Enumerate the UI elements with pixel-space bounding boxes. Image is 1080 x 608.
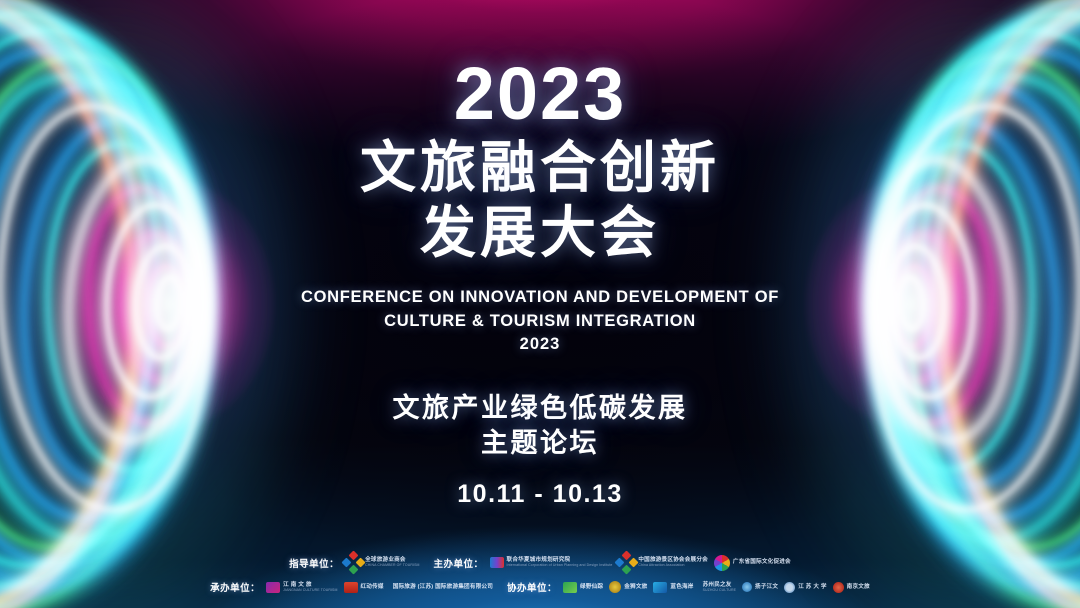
conference-poster: 2023 文旅融合创新 发展大会 CONFERENCE ON INNOVATIO…	[0, 0, 1080, 608]
sponsor-name-cn: 国际旅游 (江苏) 国际旅游集团有限公司	[393, 584, 493, 590]
sponsor-row-primary: 指导单位：全球旅游业商会CHINA CHAMBER OF TOURISM主办单位…	[289, 554, 791, 571]
small-blue-logo	[742, 582, 752, 592]
sponsor-logo-text: 苏州民之友SUZHOU CULTURE	[703, 582, 736, 593]
poster-content: 2023 文旅融合创新 发展大会 CONFERENCE ON INNOVATIO…	[0, 0, 1080, 608]
sponsor-logo[interactable]: 联合华夏城市规划研究院International Corporation of …	[490, 557, 613, 568]
sponsor-logo-text: 蓝色海岸	[670, 584, 693, 590]
sponsor-name-cn: 苏州民之友	[703, 582, 736, 588]
sponsor-logo[interactable]: 南京文旅	[833, 582, 870, 593]
sponsor-group-label: 协办单位：	[507, 580, 557, 594]
sponsor-logo[interactable]: 蓝色海岸	[653, 582, 693, 593]
envelope-red-logo	[344, 582, 358, 593]
sponsor-logo[interactable]: 中国旅游景区协会会展分会China Attraction Association	[618, 554, 708, 571]
year-heading: 2023	[454, 58, 627, 129]
four-diamond-logo	[615, 550, 639, 574]
sponsor-logo[interactable]: 江 南 文 旅JIANGNAN CULTURE TOURISM	[266, 582, 337, 593]
forum-theme: 文旅产业绿色低碳发展 主题论坛	[393, 391, 688, 462]
sponsor-logo-text: 江 南 文 旅JIANGNAN CULTURE TOURISM	[283, 582, 337, 593]
sponsor-name-cn: 扬子江文	[755, 584, 778, 590]
sponsor-name-cn: 广东省国际文化促进会	[733, 559, 791, 565]
four-diamond-logo	[342, 550, 366, 574]
forum-theme-line-1: 文旅产业绿色低碳发展	[393, 391, 688, 427]
sponsor-logo-text: 江 苏 大 学	[798, 584, 826, 590]
sponsor-group: 承办单位：江 南 文 旅JIANGNAN CULTURE TOURISM红动传媒…	[210, 580, 493, 594]
main-title: 文旅融合创新 发展大会	[360, 129, 720, 264]
sponsor-name-en: SUZHOU CULTURE	[703, 589, 736, 593]
sponsor-section: 指导单位：全球旅游业商会CHINA CHAMBER OF TOURISM主办单位…	[0, 554, 1080, 594]
sponsor-name-en: CHINA CHAMBER OF TOURISM	[365, 564, 419, 568]
english-subtitle-line-1: CONFERENCE ON INNOVATION AND DEVELOPMENT…	[301, 286, 779, 309]
sponsor-logo-text: 红动传媒	[361, 584, 384, 590]
sponsor-logo[interactable]: 绿野仙踪	[563, 582, 603, 593]
sponsor-logo-text: 金狮文旅	[624, 584, 647, 590]
sponsor-group-label: 主办单位：	[434, 556, 484, 570]
sponsor-group: 协办单位：绿野仙踪金狮文旅蓝色海岸苏州民之友SUZHOU CULTURE扬子江文…	[507, 580, 870, 594]
sponsor-logo[interactable]: 全球旅游业商会CHINA CHAMBER OF TOURISM	[345, 554, 419, 571]
sponsor-name-cn: 江 南 文 旅	[283, 582, 337, 588]
event-dates: 10.11 - 10.13	[457, 480, 622, 509]
pinwheel-logo	[714, 555, 730, 571]
sponsor-logo-text: 国际旅游 (江苏) 国际旅游集团有限公司	[393, 584, 493, 590]
sponsor-logo[interactable]: 国际旅游 (江苏) 国际旅游集团有限公司	[390, 584, 493, 590]
green-mountain-logo	[563, 582, 577, 593]
main-title-line-1: 文旅融合创新	[360, 137, 720, 200]
ccc-logo	[490, 557, 504, 568]
sponsor-group: 主办单位：联合华夏城市规划研究院International Corporatio…	[434, 554, 791, 571]
circle-logo	[784, 582, 795, 593]
star-purple-logo	[266, 582, 280, 593]
sponsor-logo[interactable]: 红动传媒	[344, 582, 384, 593]
sponsor-logo-text: 广东省国际文化促进会	[733, 559, 791, 565]
sponsor-logo-text: 全球旅游业商会CHINA CHAMBER OF TOURISM	[365, 557, 419, 568]
sponsor-logo-text: 扬子江文	[755, 584, 778, 590]
english-subtitle-year: 2023	[301, 333, 779, 356]
sponsor-name-cn: 金狮文旅	[624, 584, 647, 590]
sponsor-name-en: China Attraction Association	[638, 564, 708, 568]
sponsor-name-en: International Corporation of Urban Plann…	[507, 564, 613, 568]
sponsor-group-label: 承办单位：	[210, 580, 260, 594]
forum-theme-line-2: 主题论坛	[393, 426, 688, 462]
sponsor-name-cn: 南京文旅	[847, 584, 870, 590]
english-subtitle: CONFERENCE ON INNOVATION AND DEVELOPMENT…	[301, 286, 779, 356]
sponsor-name-en: JIANGNAN CULTURE TOURISM	[283, 589, 337, 593]
sponsor-group: 指导单位：全球旅游业商会CHINA CHAMBER OF TOURISM	[289, 554, 419, 571]
sponsor-logo-text: 中国旅游景区协会会展分会China Attraction Association	[638, 557, 708, 568]
sponsor-name-cn: 江 苏 大 学	[798, 584, 826, 590]
red-seal-logo	[833, 582, 844, 593]
sponsor-logo[interactable]: 扬子江文	[742, 582, 778, 592]
sponsor-logo-text: 联合华夏城市规划研究院International Corporation of …	[507, 557, 613, 568]
blue-tile-logo	[653, 582, 667, 593]
main-title-line-2: 发展大会	[360, 202, 720, 265]
sponsor-logo[interactable]: 苏州民之友SUZHOU CULTURE	[700, 582, 736, 593]
sponsor-logo-text: 绿野仙踪	[580, 584, 603, 590]
english-subtitle-line-2: CULTURE & TOURISM INTEGRATION	[301, 310, 779, 333]
gold-emblem-logo	[609, 581, 621, 593]
sponsor-name-cn: 蓝色海岸	[670, 584, 693, 590]
sponsor-logo-text: 南京文旅	[847, 584, 870, 590]
sponsor-name-cn: 绿野仙踪	[580, 584, 603, 590]
sponsor-name-cn: 红动传媒	[361, 584, 384, 590]
sponsor-row-secondary: 承办单位：江 南 文 旅JIANGNAN CULTURE TOURISM红动传媒…	[210, 580, 870, 594]
sponsor-logo[interactable]: 广东省国际文化促进会	[714, 555, 791, 571]
sponsor-logo[interactable]: 金狮文旅	[609, 581, 647, 593]
sponsor-logo[interactable]: 江 苏 大 学	[784, 582, 826, 593]
sponsor-group-label: 指导单位：	[289, 556, 339, 570]
